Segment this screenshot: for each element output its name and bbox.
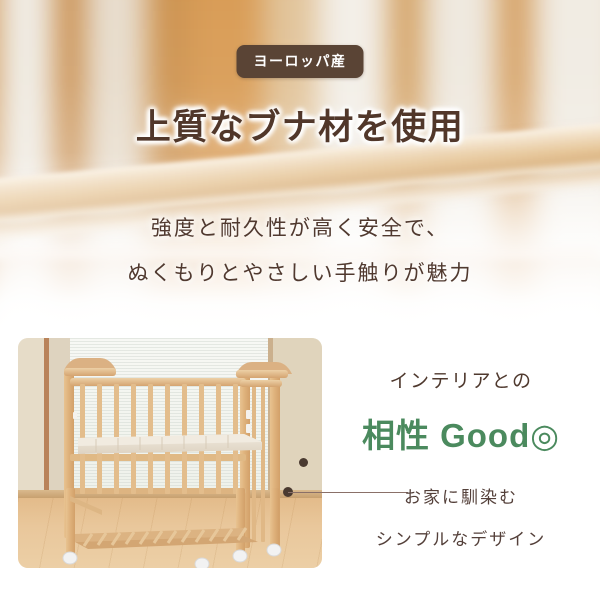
feature-desc-line-1: お家に馴染む (330, 483, 592, 508)
promo-page: ヨーロッパ産 上質なブナ材を使用 強度と耐久性が高く安全で、 ぬくもりとやさしい… (0, 0, 600, 600)
hero-subtitle: 強度と耐久性が高く安全で、 ぬくもりとやさしい手触りが魅力 (0, 206, 600, 296)
hero-subtitle-line-2: ぬくもりとやさしい手触りが魅力 (0, 251, 600, 296)
product-photo (18, 338, 322, 568)
feature-desc-line-2: シンプルなデザイン (330, 525, 592, 550)
origin-badge: ヨーロッパ産 (237, 45, 364, 78)
hero-title: 上質なブナ材を使用 (0, 99, 600, 150)
crib-illustration (18, 338, 322, 568)
feature-headline: 相性 Good◎ (330, 409, 592, 457)
feature-lead: インテリアとの (330, 366, 592, 393)
feature-text-block: インテリアとの 相性 Good◎ お家に馴染む シンプルなデザイン (330, 338, 592, 568)
hero-subtitle-line-1: 強度と耐久性が高く安全で、 (151, 217, 449, 240)
